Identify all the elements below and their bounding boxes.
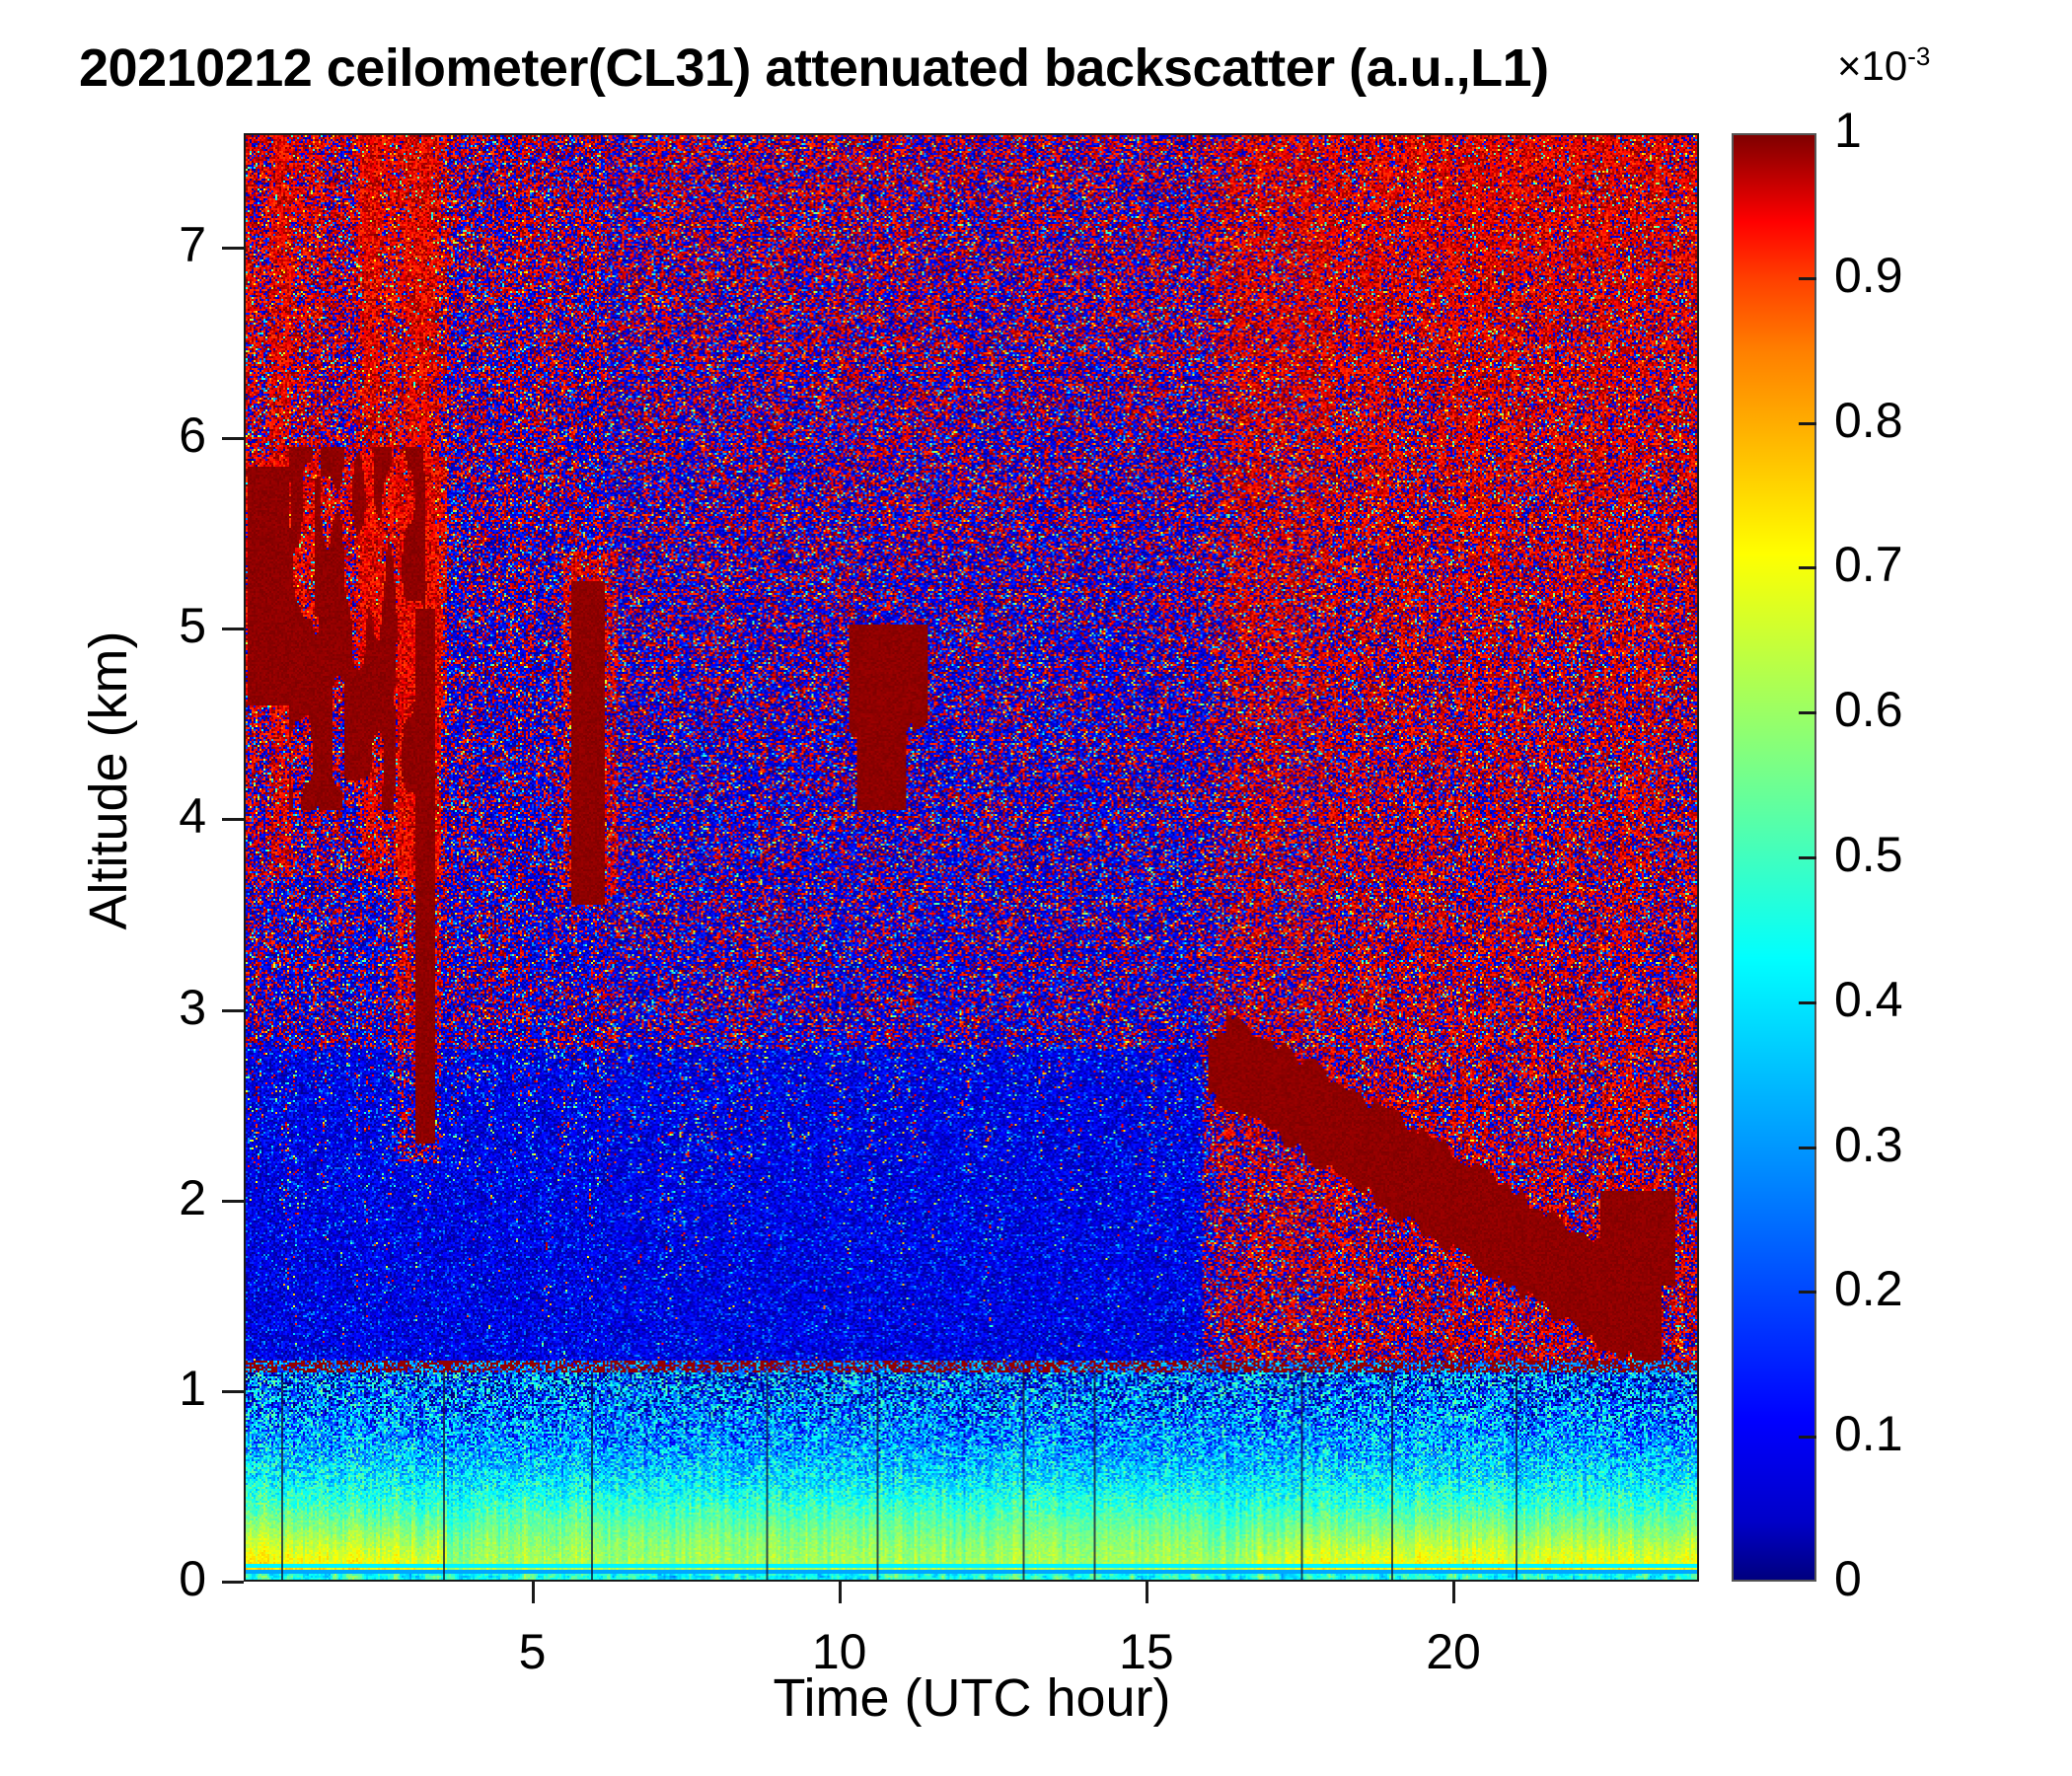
heatmap-image xyxy=(244,133,1699,1582)
y-tick-mark xyxy=(222,1009,244,1012)
colorbar-tick-label: 0.8 xyxy=(1834,392,2032,449)
colorbar-exponent-label: ×10-3 xyxy=(1837,41,1930,90)
x-tick-mark xyxy=(1146,1582,1148,1603)
chart-title: 20210212 ceilometer(CL31) attenuated bac… xyxy=(79,37,1549,99)
colorbar-tick-mark xyxy=(1799,1001,1816,1004)
y-tick-label: 2 xyxy=(29,1169,206,1226)
colorbar-tick-label: 0.6 xyxy=(1834,681,2032,738)
colorbar-tick-label: 1 xyxy=(1834,102,2032,159)
colorbar-tick-mark xyxy=(1799,566,1816,569)
heatmap-plot-area xyxy=(244,133,1699,1582)
y-tick-mark xyxy=(222,247,244,250)
colorbar-tick-label: 0.5 xyxy=(1834,826,2032,883)
colorbar-tick-mark xyxy=(1799,856,1816,859)
colorbar-tick-label: 0 xyxy=(1834,1550,2032,1607)
colorbar-exponent-base: 10 xyxy=(1862,42,1908,89)
x-tick-mark xyxy=(839,1582,842,1603)
colorbar-tick-label: 0.1 xyxy=(1834,1405,2032,1462)
figure-canvas: 20210212 ceilometer(CL31) attenuated bac… xyxy=(0,0,2072,1776)
y-tick-label: 6 xyxy=(29,407,206,464)
y-tick-label: 0 xyxy=(29,1550,206,1607)
y-tick-mark xyxy=(222,1390,244,1393)
y-tick-mark xyxy=(222,437,244,440)
colorbar-tick-mark xyxy=(1799,277,1816,280)
y-tick-mark xyxy=(222,818,244,821)
y-tick-label: 7 xyxy=(29,216,206,273)
y-tick-label: 1 xyxy=(29,1360,206,1417)
colorbar-tick-label: 0.3 xyxy=(1834,1116,2032,1173)
x-tick-mark xyxy=(1452,1582,1455,1603)
colorbar-multiplier-symbol: × xyxy=(1837,42,1862,89)
colorbar-tick-mark xyxy=(1799,422,1816,425)
y-tick-mark xyxy=(222,1200,244,1203)
colorbar-tick-label: 0.2 xyxy=(1834,1260,2032,1317)
x-axis-label: Time (UTC hour) xyxy=(493,1667,1450,1729)
y-axis-label: Altitude (km) xyxy=(78,475,139,1086)
colorbar-tick-mark xyxy=(1799,711,1816,714)
colorbar-tick-label: 0.9 xyxy=(1834,247,2032,304)
colorbar-tick-mark xyxy=(1799,1291,1816,1294)
colorbar-tick-mark xyxy=(1799,1436,1816,1439)
y-tick-mark xyxy=(222,628,244,630)
colorbar-exponent-power: -3 xyxy=(1907,41,1930,71)
colorbar-tick-mark xyxy=(1799,1147,1816,1149)
colorbar-tick-label: 0.4 xyxy=(1834,971,2032,1028)
colorbar-tick-label: 0.7 xyxy=(1834,536,2032,593)
x-tick-mark xyxy=(532,1582,535,1603)
y-tick-mark xyxy=(222,1581,244,1584)
